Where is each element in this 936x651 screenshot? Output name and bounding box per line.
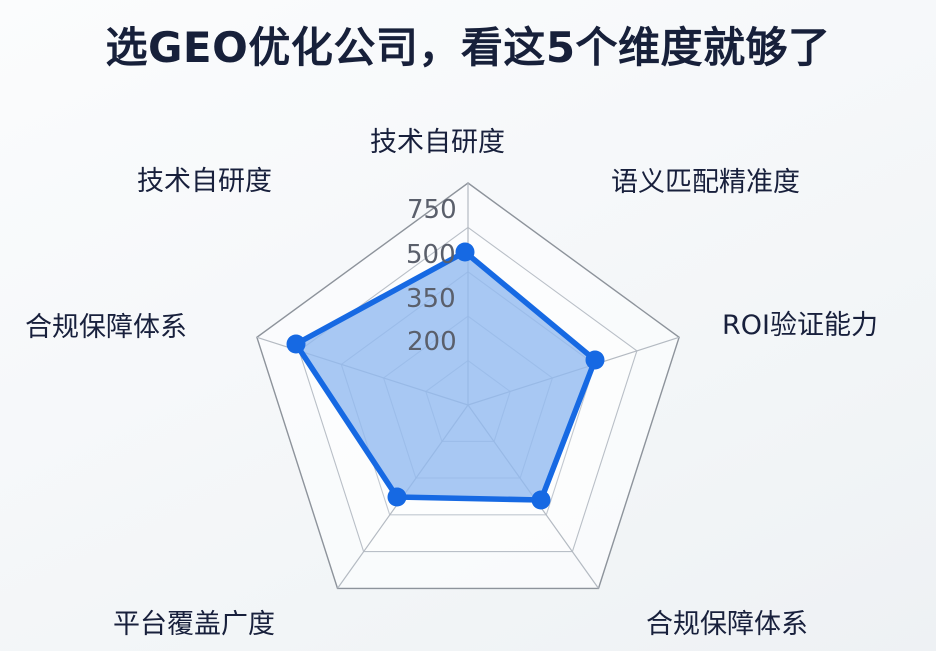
axis-label-left: 合规保障体系	[25, 305, 187, 344]
data-point-3[interactable]	[388, 488, 407, 507]
radial-tick-200: 200	[407, 327, 457, 357]
radial-tick-750: 750	[407, 195, 457, 225]
data-point-1[interactable]	[586, 351, 605, 370]
axis-label-lower-right: 合规保障体系	[646, 602, 808, 641]
radar-chart: 技术自研度 语义匹配精准度 ROI验证能力 合规保障体系 平台覆盖广度 合规保障…	[0, 0, 936, 651]
data-point-2[interactable]	[532, 491, 551, 510]
slide-canvas: 选GEO优化公司，看这5个维度就够了	[0, 0, 936, 651]
axis-label-right: ROI验证能力	[722, 303, 878, 342]
axis-label-top: 技术自研度	[370, 120, 505, 159]
data-point-4[interactable]	[287, 335, 306, 354]
radial-tick-500: 500	[406, 240, 456, 270]
data-point-0[interactable]	[456, 243, 475, 262]
axis-label-upper-right: 语义匹配精准度	[611, 160, 800, 199]
axis-label-lower-left: 平台覆盖广度	[113, 602, 275, 641]
axis-label-upper-left: 技术自研度	[137, 159, 272, 198]
radial-tick-350: 350	[406, 284, 456, 314]
